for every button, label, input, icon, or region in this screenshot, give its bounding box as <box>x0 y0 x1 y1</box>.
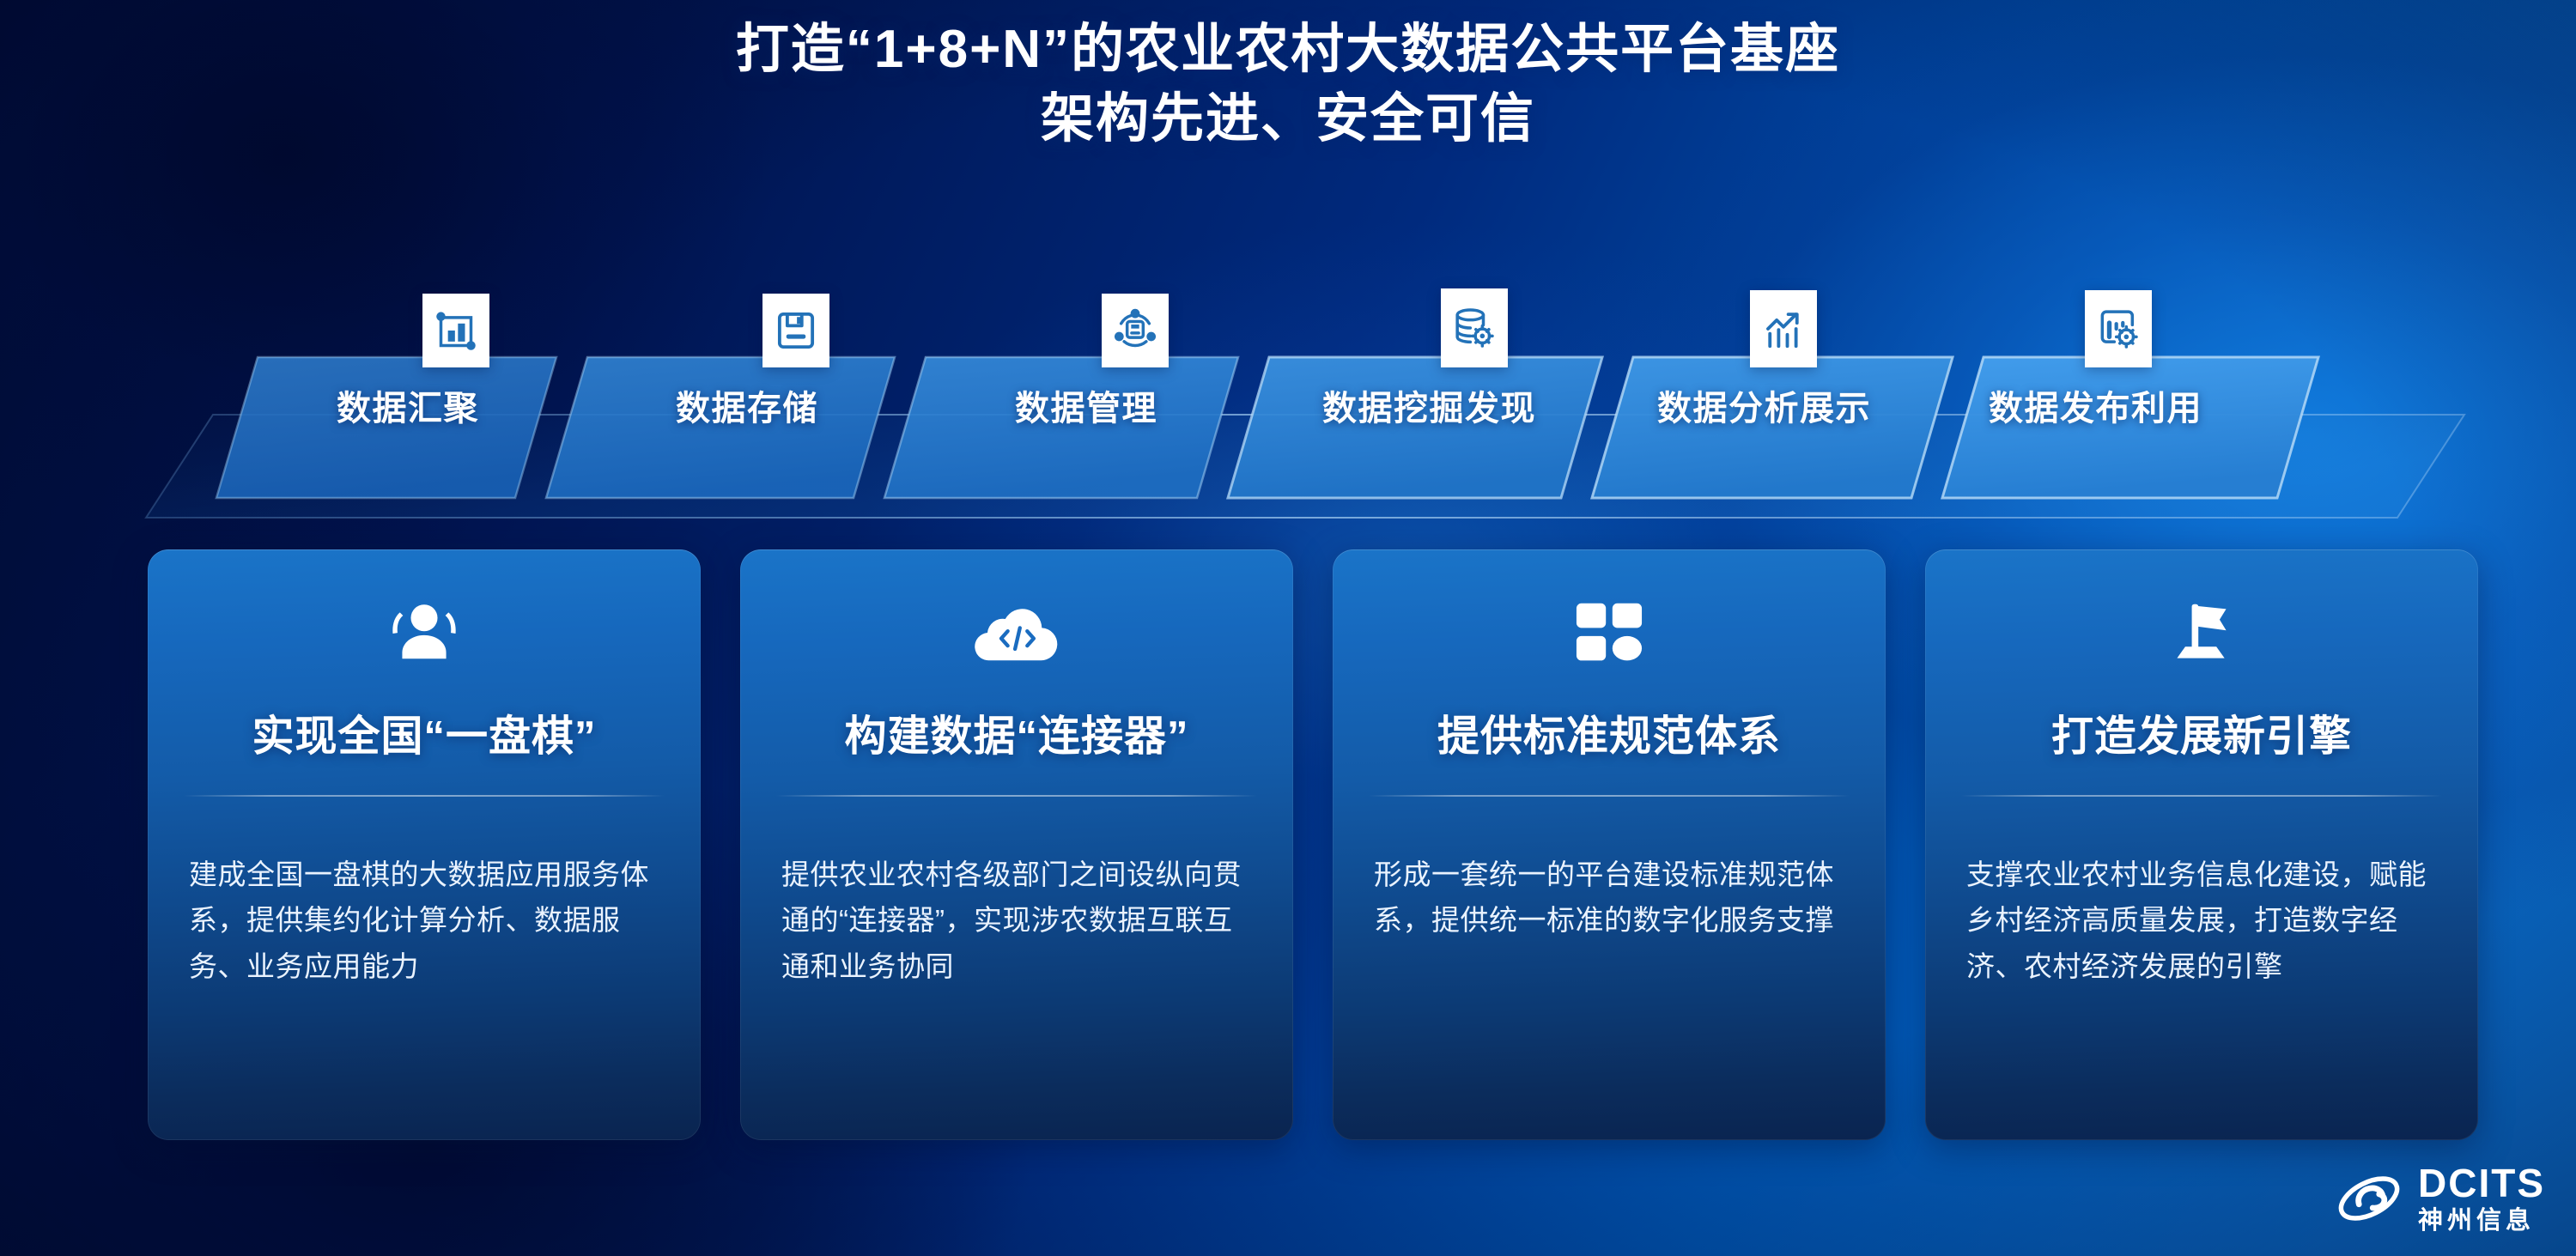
value-card-1[interactable]: 实现全国“一盘棋” 建成全国一盘棋的大数据应用服务体系，提供集约化计算分析、数据… <box>148 549 701 1140</box>
four-blocks-grid-icon <box>1333 594 1886 673</box>
company-logo: DCITS 神州信息 <box>2332 1163 2545 1234</box>
slide-canvas: 打造“1+8+N”的农业农村大数据公共平台基座 架构先进、安全可信 <box>0 0 2576 1256</box>
cloud-code-icon <box>740 594 1293 673</box>
ribbon-stage-label-1: 数据汇聚 <box>337 380 479 430</box>
users-group-icon <box>148 594 701 673</box>
logo-brand-text-cn: 神州信息 <box>2418 1209 2535 1234</box>
value-cards-row: 实现全国“一盘棋” 建成全国一盘棋的大数据应用服务体系，提供集约化计算分析、数据… <box>0 549 2576 1150</box>
value-card-4[interactable]: 打造发展新引擎 支撑农业农村业务信息化建设，赋能乡村经济高质量发展，打造数字经济… <box>1925 549 2478 1140</box>
card-divider-3 <box>1369 795 1850 797</box>
trend-arrow-bars-icon <box>1750 290 1817 367</box>
card-body-2: 提供农业农村各级部门之间设纵向贯通的“连接器”，实现涉农数据互联互通和业务协同 <box>781 852 1259 989</box>
bar-chart-aggregate-icon <box>422 294 489 367</box>
card-body-1: 建成全国一盘棋的大数据应用服务体系，提供集约化计算分析、数据服务、业务应用能力 <box>189 852 666 989</box>
card-divider-4 <box>1961 795 2442 797</box>
ribbon-stage-label-2: 数据存储 <box>676 380 818 430</box>
value-card-3[interactable]: 提供标准规范体系 形成一套统一的平台建设标准规范体系，提供统一标准的数字化服务支… <box>1333 549 1886 1140</box>
card-body-4: 支撑农业农村业务信息化建设，赋能乡村经济高质量发展，打造数字经济、农村经济发展的… <box>1966 852 2444 989</box>
ribbon-stage-label-5: 数据分析展示 <box>1657 380 1871 430</box>
process-ribbon: 数据汇聚 数据存储 数据管理 数据挖掘发现 数据分析展示 数据发布利用 <box>0 273 2576 531</box>
flag-milestone-icon <box>1925 594 2478 673</box>
card-title-1: 实现全国“一盘棋” <box>148 702 701 763</box>
card-divider-2 <box>776 795 1257 797</box>
page-title-line-1: 打造“1+8+N”的农业农村大数据公共平台基座 <box>0 15 2576 85</box>
ribbon-stage-label-6: 数据发布利用 <box>1989 380 2202 430</box>
ribbon-stage-label-4: 数据挖掘发现 <box>1322 380 1536 430</box>
value-card-2[interactable]: 构建数据“连接器” 提供农业农村各级部门之间设纵向贯通的“连接器”，实现涉农数据… <box>740 549 1293 1140</box>
card-title-3: 提供标准规范体系 <box>1333 702 1886 763</box>
dcits-swoosh-logo-icon <box>2332 1167 2406 1230</box>
floppy-disk-save-icon <box>762 294 829 367</box>
page-title-line-2: 架构先进、安全可信 <box>0 85 2576 155</box>
server-network-nodes-icon <box>1102 294 1169 367</box>
card-divider-1 <box>184 795 665 797</box>
card-body-3: 形成一套统一的平台建设标准规范体系，提供统一标准的数字化服务支撑 <box>1374 852 1851 944</box>
report-gear-icon <box>2085 290 2152 367</box>
card-title-4: 打造发展新引擎 <box>1925 702 2478 763</box>
database-gear-icon <box>1441 288 1508 367</box>
ribbon-stage-label-3: 数据管理 <box>1015 380 1157 430</box>
logo-brand-text: DCITS <box>2418 1163 2545 1203</box>
card-title-2: 构建数据“连接器” <box>740 702 1293 763</box>
slide-title-block: 打造“1+8+N”的农业农村大数据公共平台基座 架构先进、安全可信 <box>0 15 2576 154</box>
